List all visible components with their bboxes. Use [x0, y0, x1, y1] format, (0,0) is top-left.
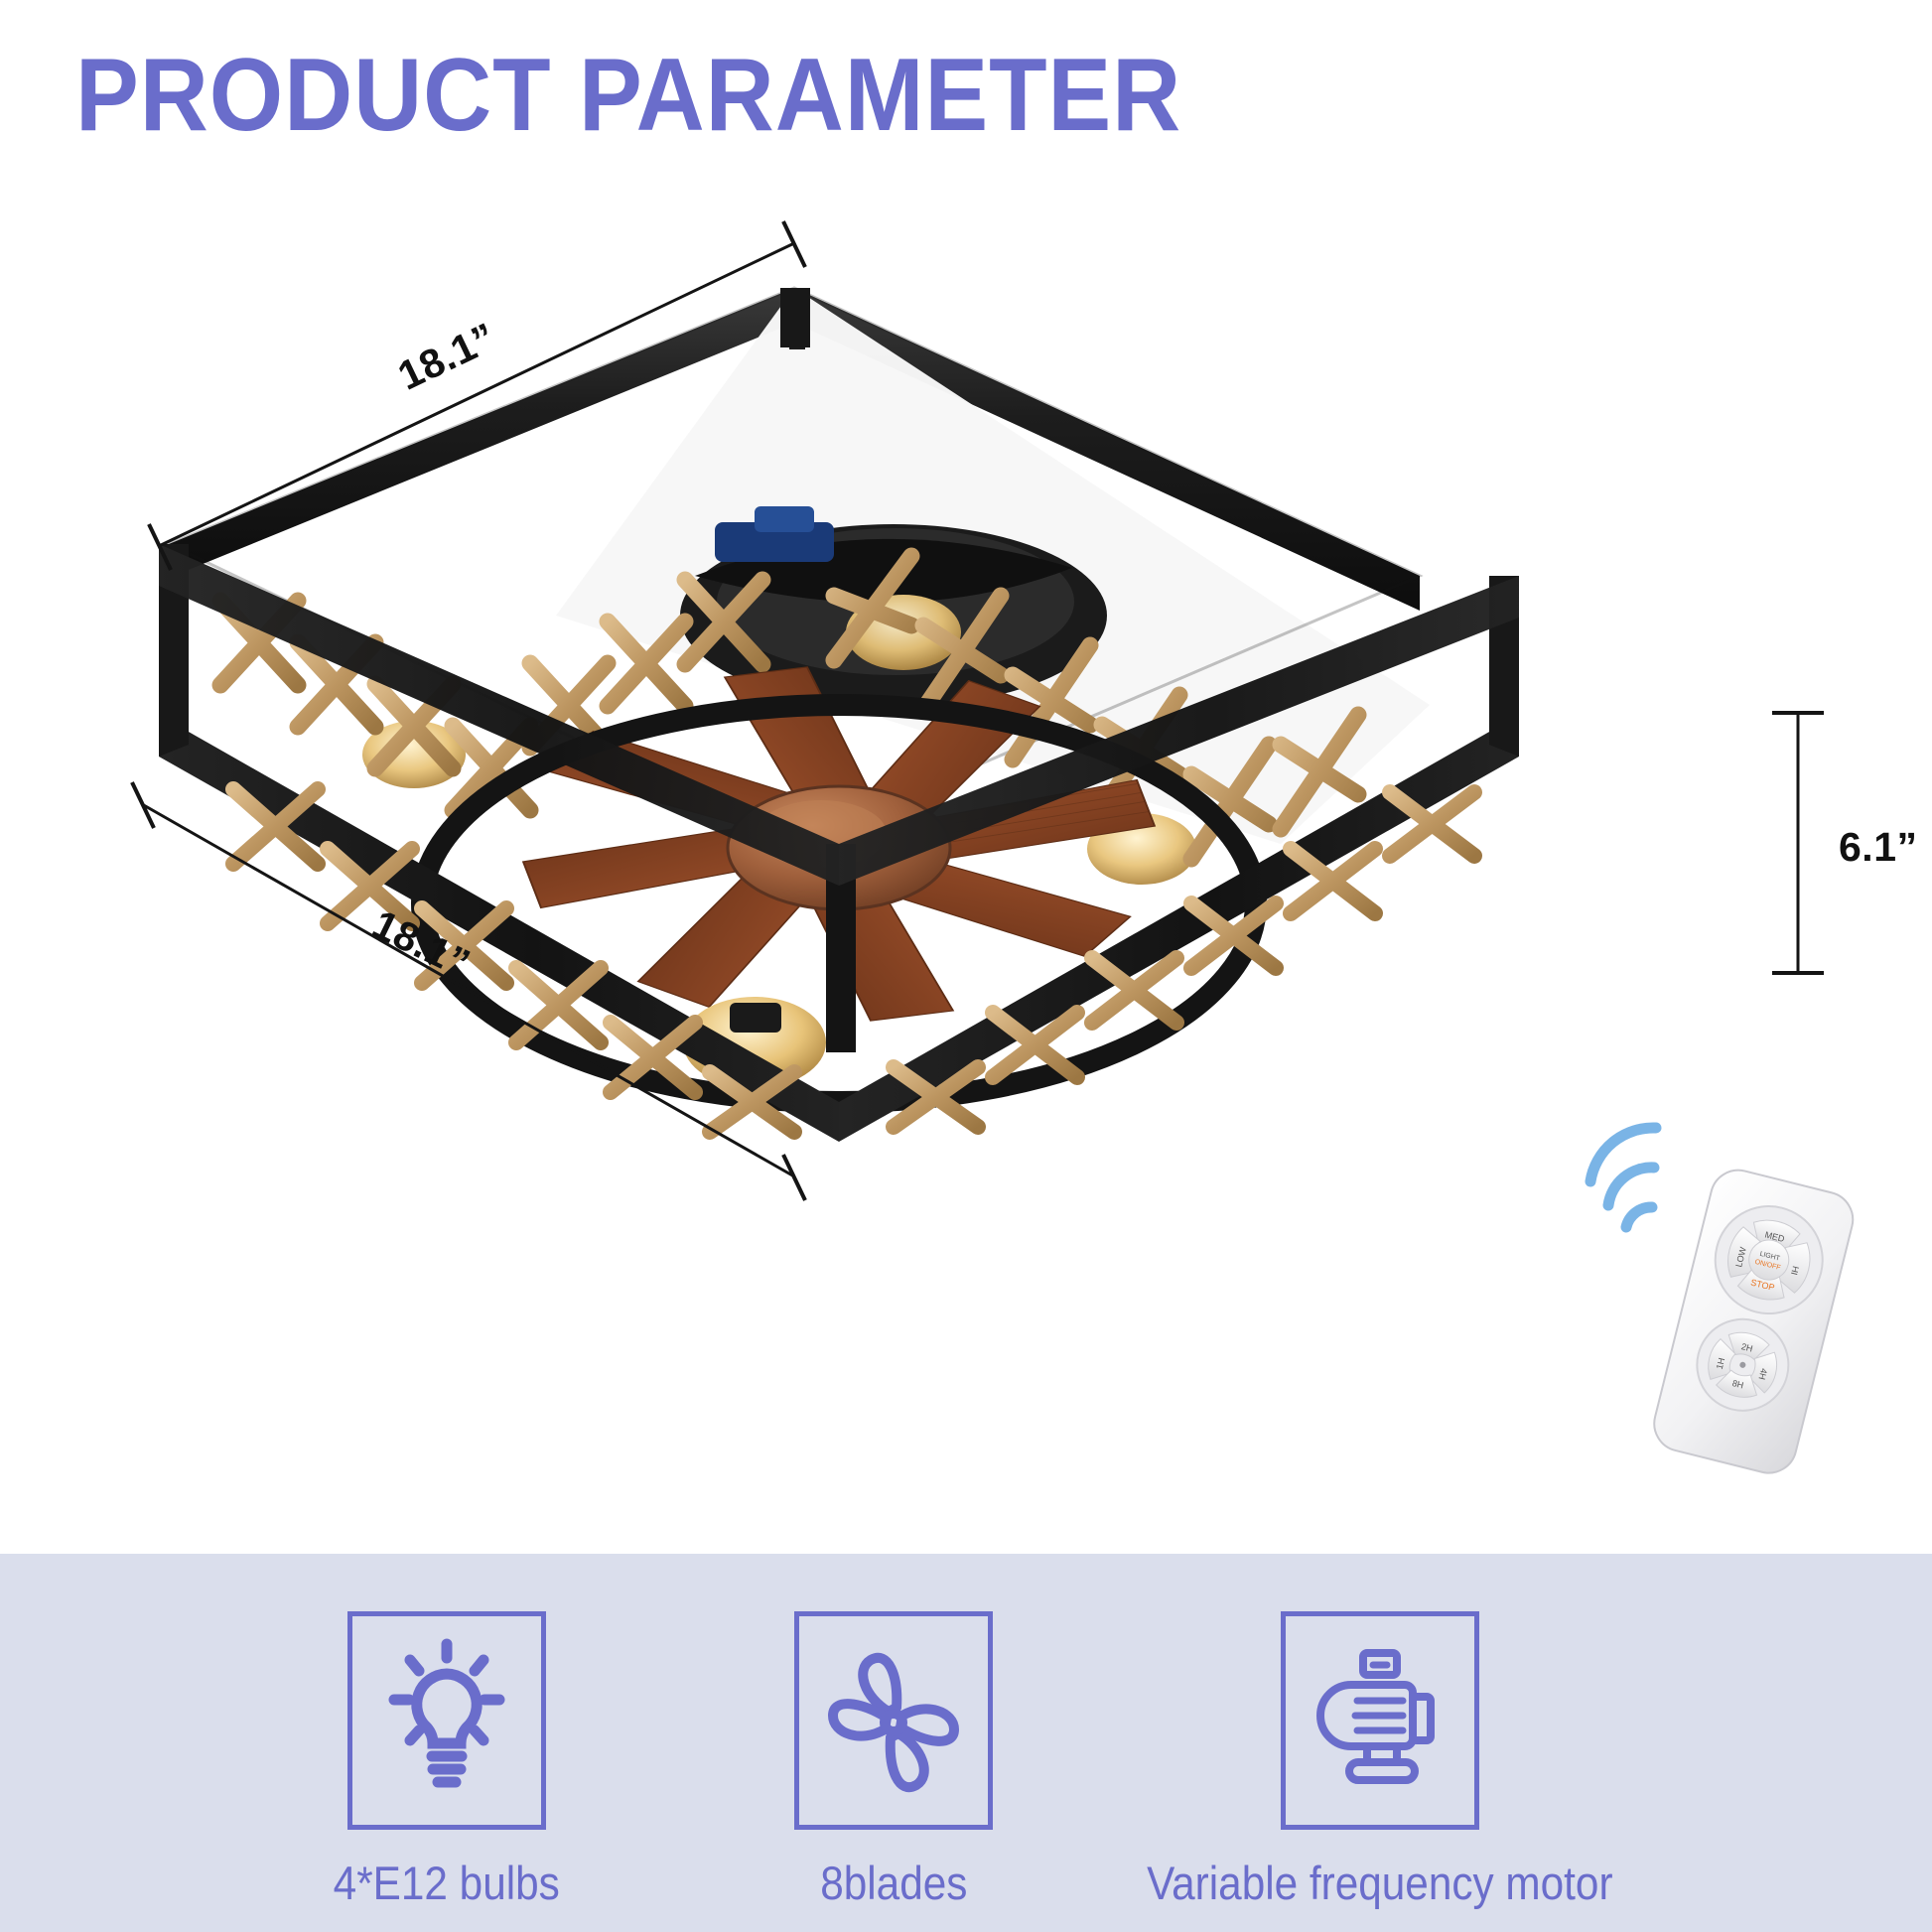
light-bulb-icon: [372, 1638, 521, 1803]
fan-blades-icon: [819, 1646, 968, 1795]
dimension-label-height: 6.1”: [1839, 824, 1918, 871]
remote-control-group: MED LOW HI STOP LIGHT ON/OFF 2H: [1565, 1120, 1932, 1477]
feature-label-blades: 8blades: [820, 1856, 967, 1910]
feature-row: 4*E12 bulbs 8blades: [0, 1554, 1932, 1932]
signal-waves-icon: [1590, 1128, 1656, 1227]
feature-band: 4*E12 bulbs 8blades: [0, 1554, 1932, 1932]
electric-motor-icon: [1306, 1641, 1454, 1800]
feature-label-motor: Variable frequency motor: [1147, 1856, 1612, 1910]
feature-item-motor: Variable frequency motor: [1102, 1611, 1658, 1910]
feature-item-bulbs: 4*E12 bulbs: [248, 1611, 645, 1910]
feature-icon-box-bulbs: [347, 1611, 546, 1830]
feature-item-blades: 8blades: [695, 1611, 1092, 1910]
page-title: PRODUCT PARAMETER: [75, 42, 1181, 150]
feature-icon-box-blades: [794, 1611, 993, 1830]
feature-label-bulbs: 4*E12 bulbs: [334, 1856, 560, 1910]
feature-icon-box-motor: [1281, 1611, 1479, 1830]
